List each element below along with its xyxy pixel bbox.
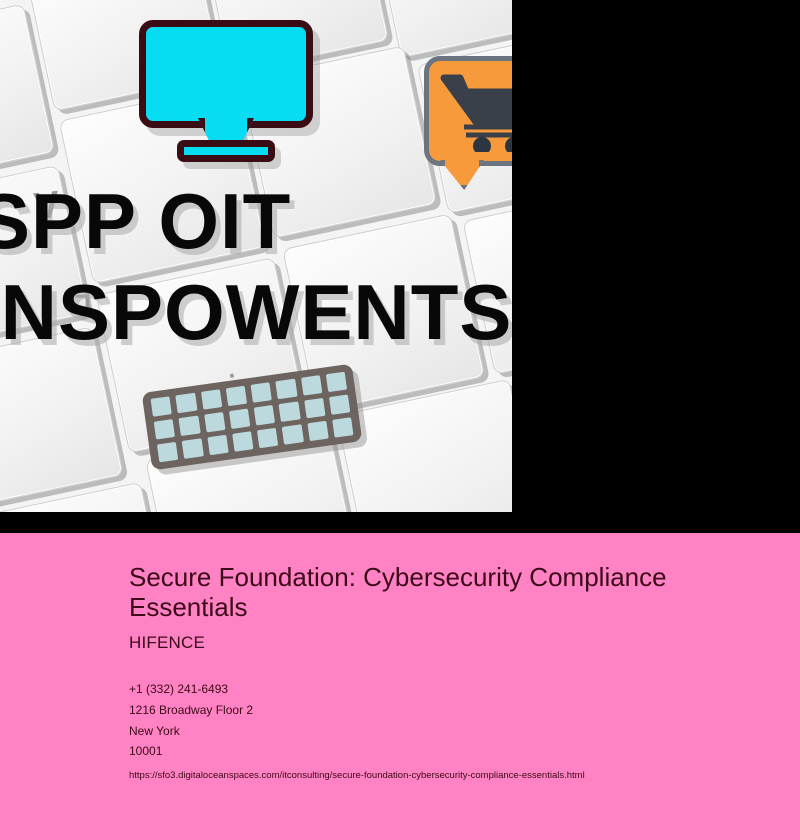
keypad-key (254, 405, 276, 426)
phone-number[interactable]: +1 (332) 241-6493 (129, 679, 800, 700)
keypad-key (176, 393, 198, 414)
keypad-key (157, 442, 179, 463)
hero-image: V L ٠ جلو (0, 0, 512, 512)
keypad-key (279, 401, 301, 422)
keypad-key (201, 389, 223, 410)
keypad-key (207, 435, 229, 456)
cart-icon (438, 72, 512, 152)
keypad-key (154, 419, 176, 440)
keypad-key (232, 431, 254, 452)
hero-overlay-text-line-1: SPP OIT (0, 176, 291, 267)
keypad-key (332, 417, 354, 438)
keypad-key (329, 394, 351, 415)
keypad-key (301, 375, 323, 396)
speech-bubble-tail (440, 160, 484, 190)
monitor-icon (139, 20, 313, 160)
contact-block: +1 (332) 241-6493 1216 Broadway Floor 2 … (129, 679, 800, 782)
keypad-key (282, 424, 304, 445)
keypad-key (182, 438, 204, 459)
hero-overlay-text-line-2: INSPOWENTS (0, 267, 512, 358)
shopping-cart-bubble-icon (424, 56, 512, 188)
keypad-key (151, 396, 173, 417)
monitor-base (177, 140, 275, 162)
keypad-key (229, 409, 251, 430)
address-postal-code: 10001 (129, 741, 800, 762)
address-line-1: 1216 Broadway Floor 2 (129, 700, 800, 721)
address-city: New York (129, 721, 800, 742)
page-title: Secure Foundation: Cybersecurity Complia… (129, 562, 669, 622)
keypad-key (304, 398, 326, 419)
keypad-key (251, 382, 273, 403)
listing-url[interactable]: https://sfo3.digitaloceanspaces.com/itco… (129, 769, 800, 782)
keypad-key (257, 428, 279, 449)
keypad-key (226, 386, 248, 407)
keypad-key (307, 421, 329, 442)
listing-info-panel: Secure Foundation: Cybersecurity Complia… (0, 533, 800, 840)
page-root: V L ٠ جلو (0, 0, 800, 840)
keypad-key (179, 416, 201, 437)
keypad-key (326, 372, 348, 393)
keypad-key (204, 412, 226, 433)
keypad-key (276, 379, 298, 400)
monitor-screen (139, 20, 313, 128)
company-name: HIFENCE (129, 633, 800, 653)
